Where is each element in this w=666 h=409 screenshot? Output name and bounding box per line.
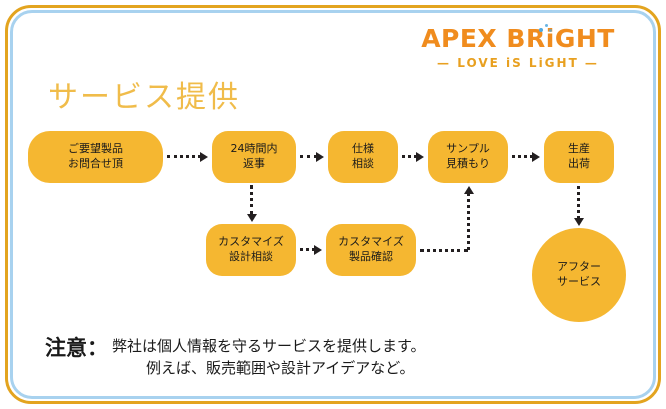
flow-node-sample-quote-line2: 見積もり — [446, 157, 490, 172]
flow-node-after-service-line2: サービス — [557, 275, 601, 290]
note-label: 注意： — [45, 336, 108, 361]
brand-name-part2: GHT — [555, 24, 615, 53]
flow-node-custom-design[interactable]: カスタマイズ 設計相談 — [206, 224, 296, 276]
flow-node-after-service[interactable]: アフター サービス — [532, 228, 626, 322]
note-line1: 弊社は個人情報を守るサービスを提供します。 — [112, 336, 426, 358]
flow-node-inquiry-line1: ご要望製品 — [68, 142, 123, 157]
connector-spec-to-sample — [402, 152, 424, 161]
flow-node-custom-confirm-line1: カスタマイズ — [338, 235, 404, 250]
flow-node-inquiry-line2: お問合せ頂 — [68, 157, 123, 172]
flow-node-spec-consult[interactable]: 仕様 相談 — [328, 131, 398, 183]
connector-reply-to-spec — [300, 152, 324, 161]
connector-sample-to-production — [512, 152, 540, 161]
connector-inquiry-to-reply — [167, 152, 208, 161]
connector-reply-to-design — [247, 185, 256, 222]
flow-node-sample-quote[interactable]: サンプル 見積もり — [428, 131, 508, 183]
brand-logo: APEX BRiGHT — LOVE iS LiGHT — — [418, 26, 618, 70]
flow-node-reply-24h-line1: 24時間内 — [231, 142, 278, 157]
connector-confirm-to-sample-horizontal — [420, 249, 468, 255]
note-line2: 例えば、販売範囲や設計アイデアなど。 — [112, 358, 426, 380]
brand-name-part1: APEX BR — [421, 24, 546, 53]
brand-name: APEX BRiGHT — [418, 26, 618, 51]
flow-node-custom-design-line1: カスタマイズ — [218, 235, 284, 250]
connector-confirm-to-sample-vertical — [464, 186, 473, 250]
flow-node-spec-consult-line1: 仕様 — [352, 142, 374, 157]
flow-node-production-ship-line2: 出荷 — [568, 157, 590, 172]
flow-node-custom-design-line2: 設計相談 — [218, 250, 284, 265]
bubbles-icon — [537, 23, 555, 35]
connector-design-to-confirm — [300, 245, 322, 254]
flow-node-inquiry[interactable]: ご要望製品 お問合せ頂 — [28, 131, 163, 183]
note-block: 注意： 弊社は個人情報を守るサービスを提供します。 例えば、販売範囲や設計アイデ… — [45, 336, 426, 380]
note-body: 弊社は個人情報を守るサービスを提供します。 例えば、販売範囲や設計アイデアなど。 — [112, 336, 426, 380]
connector-production-to-after-service — [574, 186, 583, 226]
page-title: サービス提供 — [48, 72, 240, 116]
brand-tagline: — LOVE iS LiGHT — — [418, 56, 618, 70]
flow-node-custom-confirm[interactable]: カスタマイズ 製品確認 — [326, 224, 416, 276]
flow-node-spec-consult-line2: 相談 — [352, 157, 374, 172]
slide-canvas: APEX BRiGHT — LOVE iS LiGHT — サービス提供 ご要望… — [0, 0, 666, 409]
flow-node-custom-confirm-line2: 製品確認 — [338, 250, 404, 265]
flow-node-reply-24h-line2: 返事 — [231, 157, 278, 172]
flow-node-production-ship-line1: 生産 — [568, 142, 590, 157]
flow-node-after-service-line1: アフター — [557, 260, 601, 275]
flow-node-reply-24h[interactable]: 24時間内 返事 — [212, 131, 296, 183]
flow-node-sample-quote-line1: サンプル — [446, 142, 490, 157]
flow-node-production-ship[interactable]: 生産 出荷 — [544, 131, 614, 183]
